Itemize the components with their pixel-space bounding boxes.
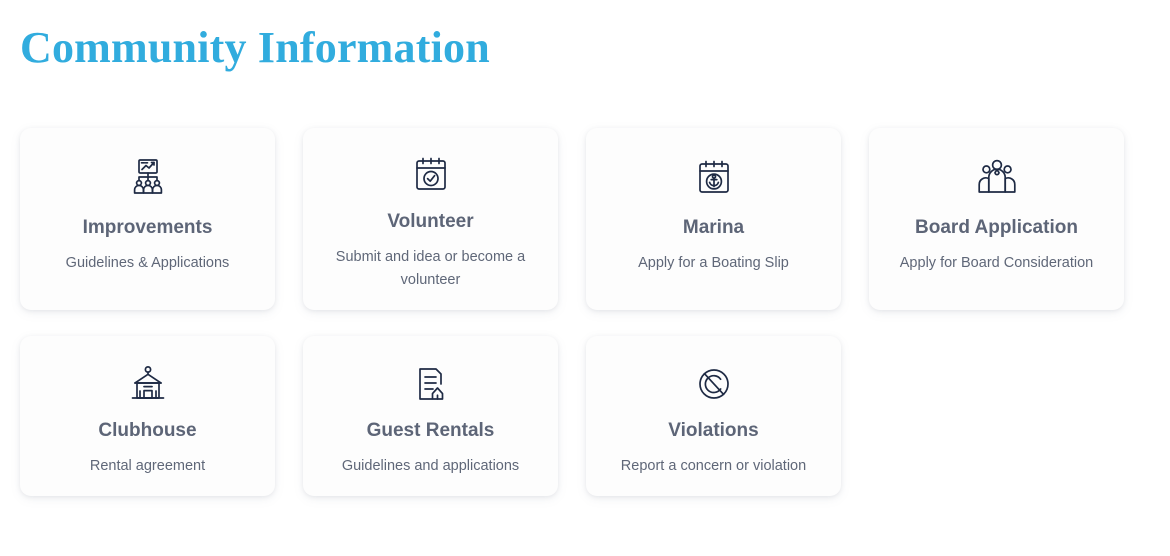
card-marina[interactable]: Marina Apply for a Boating Slip: [586, 128, 841, 310]
card-clubhouse[interactable]: Clubhouse Rental agreement: [20, 336, 275, 496]
card-title: Guest Rentals: [367, 419, 495, 443]
card-subtitle: Guidelines and applications: [342, 455, 519, 478]
community-card-grid: Improvements Guidelines & Applications V…: [20, 128, 1135, 496]
page-title: Community Information: [20, 22, 490, 74]
card-title: Volunteer: [387, 210, 473, 234]
clubhouse-building-icon: [126, 360, 170, 407]
document-pen-icon: [409, 360, 453, 407]
card-improvements[interactable]: Improvements Guidelines & Applications: [20, 128, 275, 310]
card-subtitle: Apply for a Boating Slip: [638, 252, 789, 275]
card-subtitle: Report a concern or violation: [621, 455, 806, 478]
calendar-anchor-icon: [692, 152, 736, 204]
card-volunteer[interactable]: Volunteer Submit and idea or become a vo…: [303, 128, 558, 310]
card-subtitle: Submit and idea or become a volunteer: [318, 246, 543, 292]
card-title: Board Application: [915, 216, 1078, 240]
card-subtitle: Guidelines & Applications: [66, 252, 230, 275]
card-board-application[interactable]: Board Application Apply for Board Consid…: [869, 128, 1124, 310]
prohibited-circle-icon: [692, 360, 736, 407]
calendar-check-icon: [409, 152, 453, 198]
people-group-icon: [974, 152, 1020, 204]
card-subtitle: Apply for Board Consideration: [900, 252, 1093, 275]
card-title: Violations: [668, 419, 758, 443]
card-title: Marina: [683, 216, 744, 240]
team-chart-icon: [126, 152, 170, 204]
card-title: Improvements: [83, 216, 213, 240]
community-information-page: Community Information: [0, 0, 1170, 556]
card-subtitle: Rental agreement: [90, 455, 205, 478]
card-title: Clubhouse: [98, 419, 196, 443]
card-violations[interactable]: Violations Report a concern or violation: [586, 336, 841, 496]
card-guest-rentals[interactable]: Guest Rentals Guidelines and application…: [303, 336, 558, 496]
